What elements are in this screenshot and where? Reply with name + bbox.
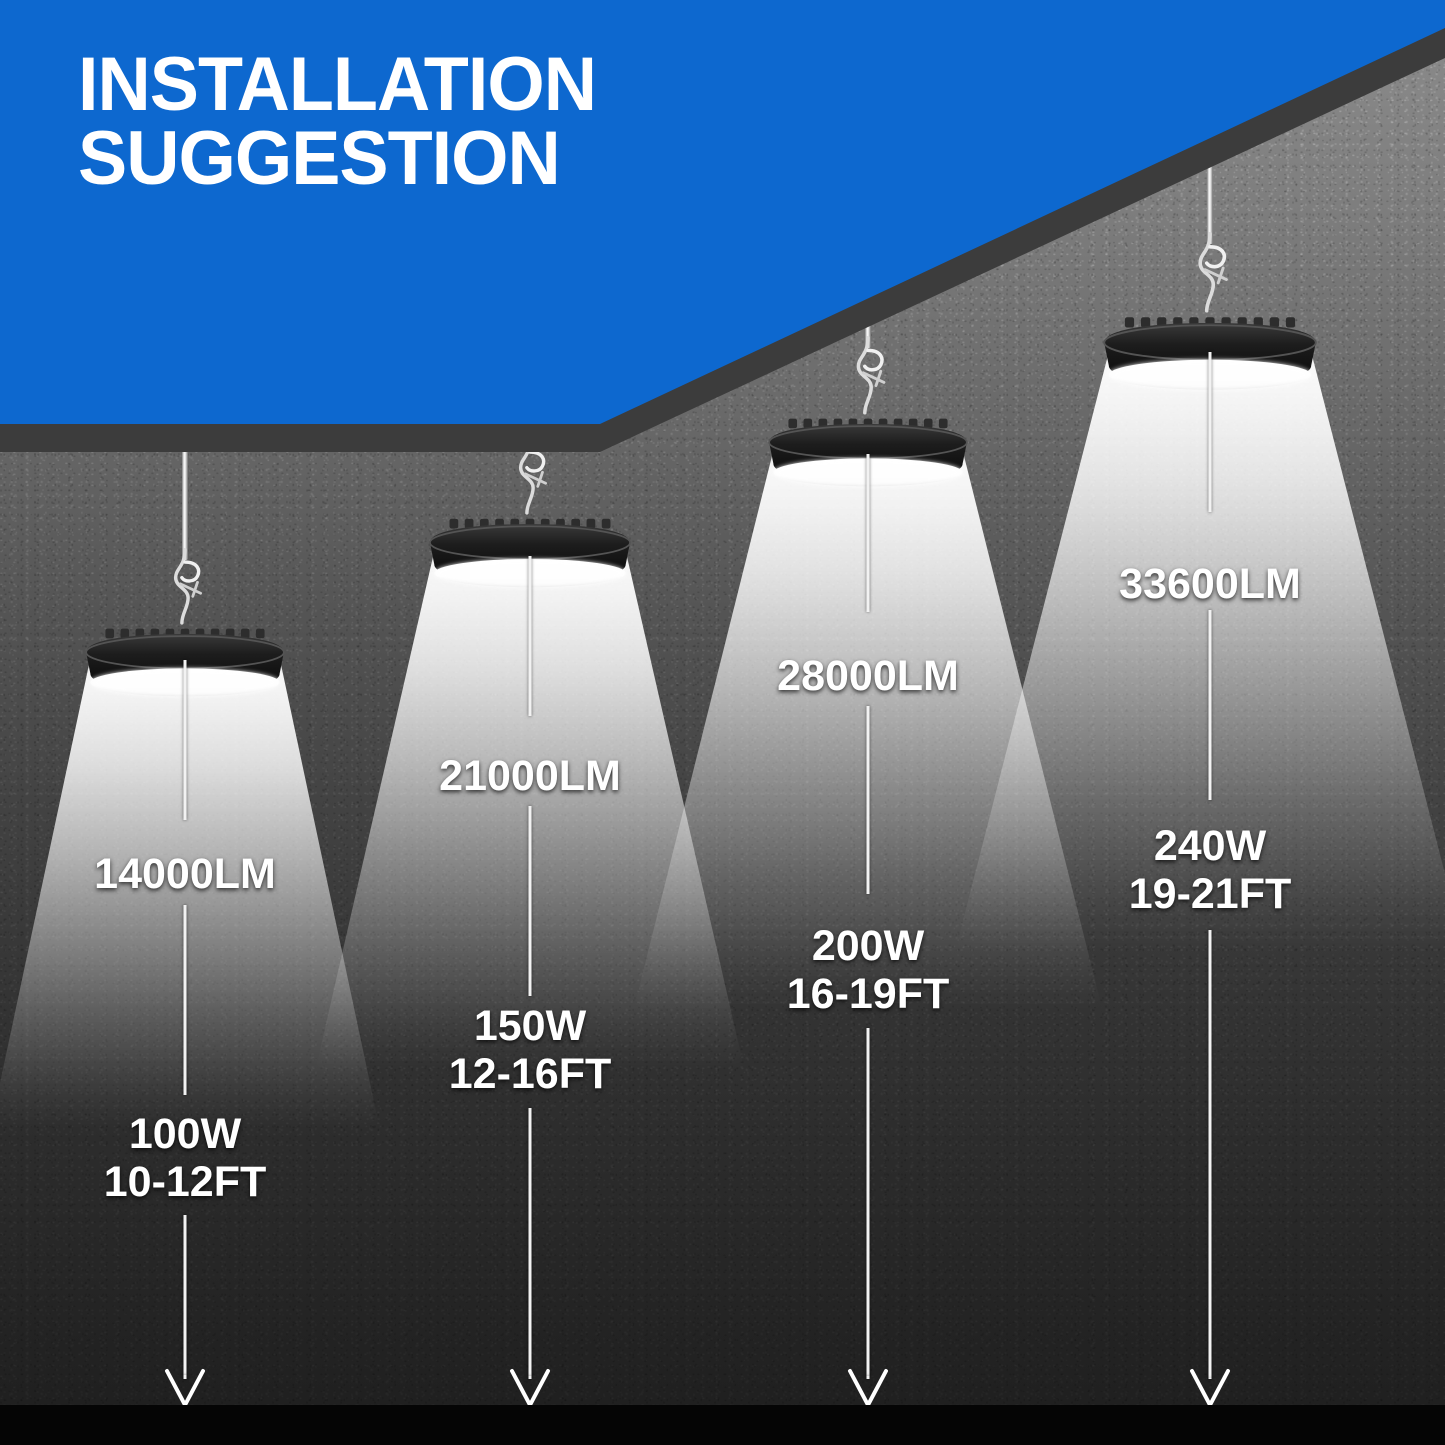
measure-line-segment-1	[867, 454, 870, 612]
measure-line-segment-2	[867, 706, 870, 894]
spec-label: 150W12-16FT	[449, 1002, 612, 1098]
lumens-label: 28000LM	[777, 652, 959, 700]
measure-line-segment-1	[529, 556, 532, 716]
mounting-height-label: 19-21FT	[1129, 870, 1292, 918]
measure-line-segment-2	[1209, 610, 1212, 800]
spec-label: 240W19-21FT	[1129, 822, 1292, 918]
wattage-label: 150W	[474, 1002, 586, 1050]
hook-icon	[1179, 232, 1241, 314]
hook-assembly	[837, 336, 899, 421]
spec-label: 200W16-19FT	[787, 922, 950, 1018]
hook-assembly	[154, 548, 216, 631]
measure-line-segment-1	[1209, 352, 1212, 512]
installation-suggestion-infographic: 14000LM100W10-12FT21000LM150W12-16FT2800…	[0, 0, 1445, 1445]
wattage-label: 100W	[129, 1110, 241, 1158]
spec-label: 100W10-12FT	[104, 1110, 267, 1206]
measure-line-segment-3	[529, 1108, 532, 1376]
measure-line-segment-1	[184, 660, 187, 820]
wattage-label: 200W	[812, 922, 924, 970]
measure-line-segment-3	[867, 1028, 870, 1376]
floor-band	[0, 1405, 1445, 1445]
mounting-height-label: 10-12FT	[104, 1158, 267, 1206]
lumens-label: 21000LM	[439, 752, 621, 800]
lumens-label: 33600LM	[1119, 560, 1301, 608]
hook-icon	[837, 336, 899, 416]
measure-line-segment-3	[184, 1215, 187, 1375]
hook-icon	[154, 548, 216, 626]
page-title: INSTALLATION SUGGESTION	[78, 48, 596, 195]
hook-assembly	[1179, 232, 1241, 319]
measure-line-segment-3	[1209, 930, 1212, 1378]
measure-line-segment-2	[184, 905, 187, 1095]
mounting-height-label: 16-19FT	[787, 970, 950, 1018]
wattage-label: 240W	[1154, 822, 1266, 870]
lumens-label: 14000LM	[94, 850, 276, 898]
measure-line-segment-2	[529, 806, 532, 996]
mounting-height-label: 12-16FT	[449, 1050, 612, 1098]
